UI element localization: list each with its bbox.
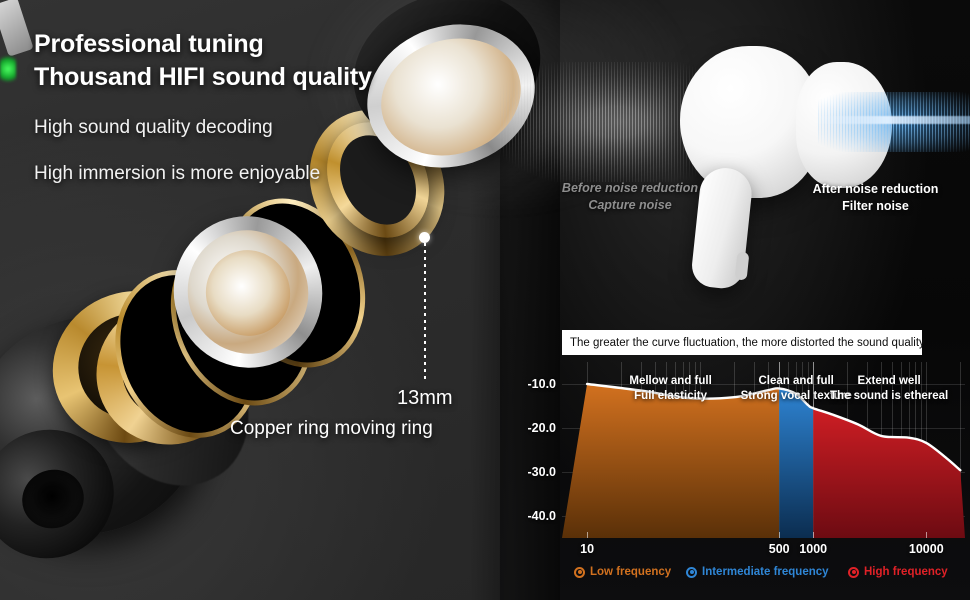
chart-legend-label: Low frequency [590,566,671,578]
chart-legend-item: Low frequency [574,566,671,578]
driver-part-label: Copper ring moving ring [230,418,433,440]
chart-y-tick-label: -20.0 [528,421,557,435]
chart-zone-caption: Mellow and fullFull elasticity [629,374,711,404]
clean-waveform-core [818,116,970,124]
status-led-glow [0,54,16,84]
headline-line-2: Thousand HIFI sound quality [34,61,474,94]
legend-ring-icon [848,567,859,578]
chart-legend-item: Intermediate frequency [686,566,829,578]
leader-dot-marker [419,232,430,243]
frequency-response-chart: The greater the curve fluctuation, the m… [500,322,970,600]
subheadline-line-1: High sound quality decoding [34,114,474,142]
chart-legend-label: Intermediate frequency [702,566,829,578]
after-noise-reduction-label: After noise reduction Filter noise [778,181,970,215]
chart-x-tick-label: 500 [769,542,790,556]
chart-zone-caption-line-2: The sound is ethereal [830,389,948,404]
chart-x-tick-label: 10 [580,542,594,556]
chart-x-tick-mark [926,532,927,538]
chart-x-axis: 10500100010000 [562,538,965,562]
chart-zone-caption-line-1: Mellow and full [629,374,711,389]
chart-y-tick-label: -40.0 [528,509,557,523]
chart-zone-caption: Extend wellThe sound is ethereal [830,374,948,404]
after-noise-line-2: Filter noise [778,198,970,215]
chart-x-tick-mark [813,532,814,538]
noisy-waveform [500,62,700,182]
chart-y-tick-label: -10.0 [528,377,557,391]
top-driver-clip [0,0,34,57]
chart-zone-caption-line-2: Full elasticity [629,389,711,404]
earbud-mic-slot [735,251,750,280]
leader-dotted-line [424,243,426,383]
driver-size-label: 13mm [397,387,453,410]
earbud-photo-illustration [500,0,970,320]
chart-legend-item: High frequency [848,566,948,578]
chart-x-tick-label: 10000 [909,542,944,556]
chart-zone-caption-line-1: Extend well [830,374,948,389]
before-noise-line-1: Before noise reduction [535,180,725,197]
chart-y-axis: -40.0-30.0-20.0-10.0 [500,362,556,538]
after-noise-line-1: After noise reduction [778,181,970,198]
chart-x-tick-mark [779,532,780,538]
before-noise-reduction-label: Before noise reduction Capture noise [535,180,725,214]
legend-ring-icon [686,567,697,578]
banner-stage: Professional tuning Thousand HIFI sound … [0,0,970,600]
headline-line-1: Professional tuning [34,28,474,61]
chart-x-tick-label: 1000 [799,542,827,556]
legend-ring-icon [574,567,585,578]
subheadline-line-2: High immersion is more enjoyable [34,160,474,188]
chart-title-banner: The greater the curve fluctuation, the m… [562,330,922,355]
chart-x-tick-mark [587,532,588,538]
chart-legend-label: High frequency [864,566,948,578]
before-noise-line-2: Capture noise [535,197,725,214]
chart-y-tick-label: -30.0 [528,465,557,479]
headline-block: Professional tuning Thousand HIFI sound … [34,28,474,188]
chart-legend: Low frequencyIntermediate frequencyHigh … [556,566,966,586]
